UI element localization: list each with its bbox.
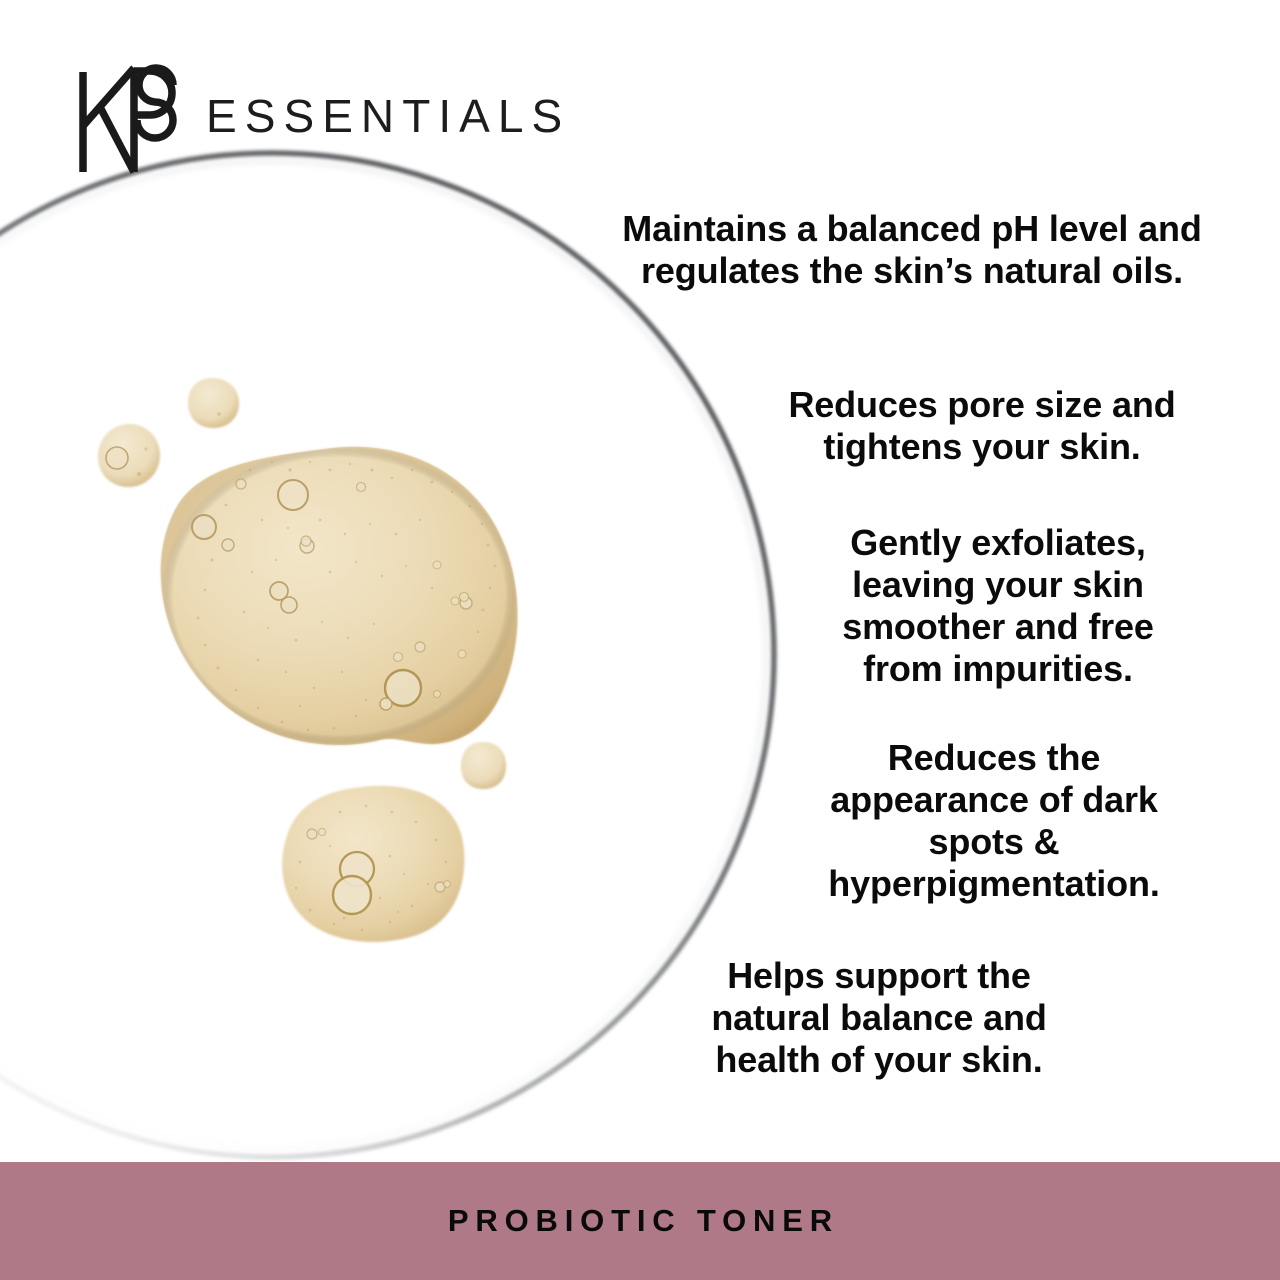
oil-droplet-figure-eight xyxy=(282,786,464,942)
brand-logo: ESSENTIALS xyxy=(72,60,692,185)
kps-monogram-icon xyxy=(72,60,192,180)
oil-droplet-small-a xyxy=(98,424,160,487)
oil-droplet-group xyxy=(98,378,518,942)
oil-droplet-large xyxy=(161,447,518,745)
brand-wordmark: ESSENTIALS xyxy=(206,93,570,139)
oil-droplet-small-d xyxy=(477,745,500,770)
benefit-text-4: Reduces the appearance of dark spots & h… xyxy=(790,737,1198,905)
benefit-text-3: Gently exfoliates, leaving your skin smo… xyxy=(798,522,1198,690)
product-name-banner: PROBIOTIC TONER xyxy=(0,1162,1280,1280)
oil-droplet-small-b xyxy=(188,378,239,428)
benefit-text-1: Maintains a balanced pH level and regula… xyxy=(616,208,1208,292)
benefit-text-2: Reduces pore size and tightens your skin… xyxy=(756,384,1208,468)
benefit-text-5: Helps support the natural balance and he… xyxy=(664,955,1094,1081)
marketing-graphic: ESSENTIALS Maintains a balanced pH level… xyxy=(0,0,1280,1280)
product-name-label: PROBIOTIC TONER xyxy=(448,1203,839,1239)
